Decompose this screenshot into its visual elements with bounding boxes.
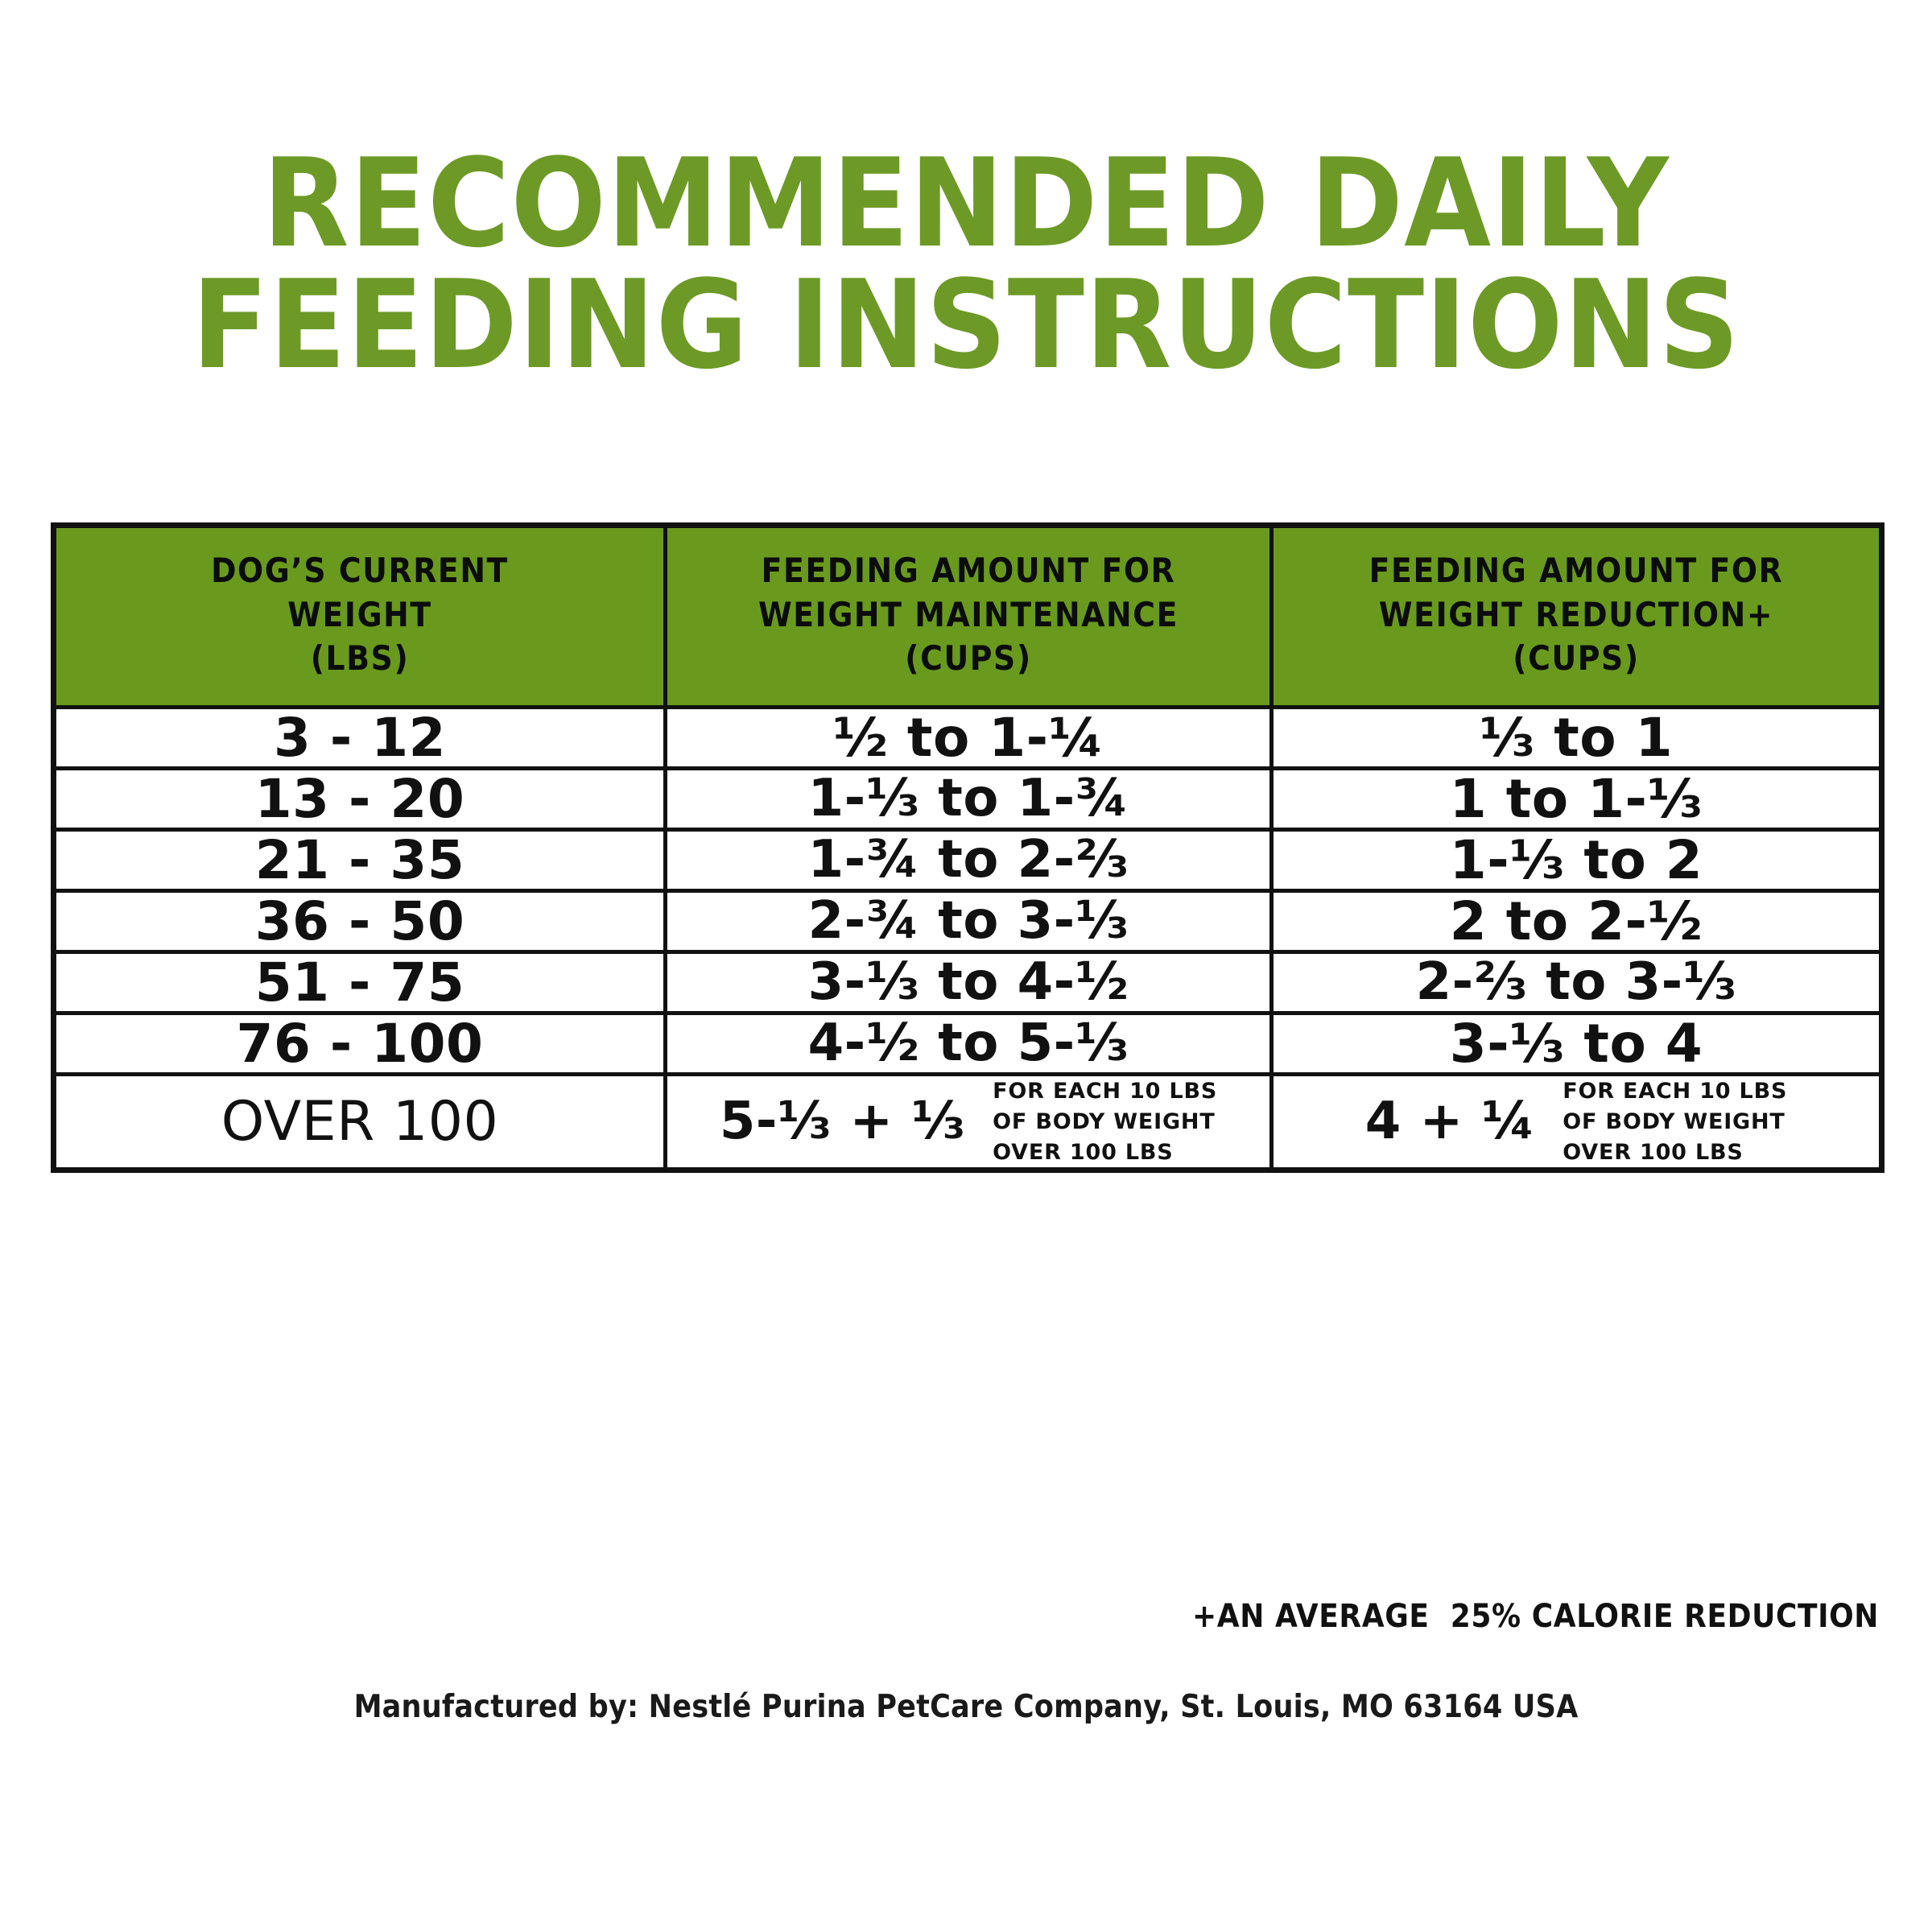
weight-value: 3 - 12	[56, 710, 663, 766]
cell-maintenance: 1-¾ to 2-⅔	[666, 830, 1272, 891]
maintenance-value: 5-⅓ + ⅓	[720, 1095, 965, 1149]
column-header-weight-label: DOG’S CURRENT WEIGHT (LBS)	[64, 549, 655, 681]
reduction-value: 2 to 2-½	[1274, 894, 1879, 949]
weight-value: 13 - 20	[56, 771, 663, 827]
cell-reduction: 1 to 1-⅓	[1272, 769, 1882, 830]
page-title-line-1: RECOMMENDED DAILY	[0, 151, 1932, 255]
table-row: 76 - 100 4-½ to 5-⅓ 3-⅓ to 4	[54, 1013, 1882, 1075]
column-header-maintenance: FEEDING AMOUNT FOR WEIGHT MAINTENANCE (C…	[666, 526, 1272, 708]
cell-weight: 76 - 100	[54, 1013, 666, 1075]
weight-value: 21 - 35	[56, 832, 663, 888]
table-body: 3 - 12 ½ to 1-¼ ⅓ to 1 13 - 20 1-⅓ to 1-…	[54, 708, 1882, 1170]
page-title-line-2: FEEDING INSTRUCTIONS	[0, 273, 1932, 377]
weight-value: OVER 100	[56, 1093, 663, 1150]
column-header-reduction: FEEDING AMOUNT FOR WEIGHT REDUCTION+ (CU…	[1272, 526, 1882, 708]
cell-maintenance: ½ to 1-¼	[666, 708, 1272, 769]
reduction-value: 1-⅓ to 2	[1274, 832, 1879, 888]
column-header-maintenance-label: FEEDING AMOUNT FOR WEIGHT MAINTENANCE (C…	[675, 549, 1261, 681]
table-row: 21 - 35 1-¾ to 2-⅔ 1-⅓ to 2	[54, 830, 1882, 891]
cell-weight: OVER 100	[54, 1075, 666, 1170]
cell-reduction: 2-⅔ to 3-⅓	[1272, 952, 1882, 1013]
manufacturer-line: Manufactured by: Nestlé Purina PetCare C…	[0, 1689, 1932, 1725]
reduction-combo: 4 + ¼ FOR EACH 10 LBS OF BODY WEIGHT OVE…	[1274, 1076, 1879, 1167]
weight-value: 36 - 50	[56, 894, 663, 949]
cell-maintenance: 2-¾ to 3-⅓	[666, 891, 1272, 952]
maintenance-value: 1-¾ to 2-⅔	[667, 833, 1269, 887]
table-row: 3 - 12 ½ to 1-¼ ⅓ to 1	[54, 708, 1882, 769]
table-row-over-100: OVER 100 5-⅓ + ⅓ FOR EACH 10 LBS OF BODY…	[54, 1075, 1882, 1170]
cell-weight: 36 - 50	[54, 891, 666, 952]
maintenance-combo: 5-⅓ + ⅓ FOR EACH 10 LBS OF BODY WEIGHT O…	[667, 1076, 1269, 1167]
cell-reduction: 2 to 2-½	[1272, 891, 1882, 952]
weight-value: 76 - 100	[56, 1016, 663, 1071]
table-row: 36 - 50 2-¾ to 3-⅓ 2 to 2-½	[54, 891, 1882, 952]
table-row: 13 - 20 1-⅓ to 1-¾ 1 to 1-⅓	[54, 769, 1882, 830]
page-title: RECOMMENDED DAILY FEEDING INSTRUCTIONS	[0, 151, 1932, 377]
cell-weight: 21 - 35	[54, 830, 666, 891]
cell-maintenance: 4-½ to 5-⅓	[666, 1013, 1272, 1075]
cell-reduction: 1-⅓ to 2	[1272, 830, 1882, 891]
feeding-chart-table: DOG’S CURRENT WEIGHT (LBS) FEEDING AMOUN…	[51, 522, 1885, 1173]
cell-reduction: 4 + ¼ FOR EACH 10 LBS OF BODY WEIGHT OVE…	[1272, 1075, 1882, 1170]
feeding-instructions-page: RECOMMENDED DAILY FEEDING INSTRUCTIONS D…	[0, 0, 1932, 1932]
table-header-row: DOG’S CURRENT WEIGHT (LBS) FEEDING AMOUN…	[54, 526, 1882, 708]
reduction-value: ⅓ to 1	[1274, 710, 1879, 766]
maintenance-value: 4-½ to 5-⅓	[667, 1017, 1269, 1071]
cell-maintenance: 5-⅓ + ⅓ FOR EACH 10 LBS OF BODY WEIGHT O…	[666, 1075, 1272, 1170]
cell-reduction: ⅓ to 1	[1272, 708, 1882, 769]
maintenance-note: FOR EACH 10 LBS OF BODY WEIGHT OVER 100 …	[993, 1076, 1217, 1167]
cell-maintenance: 3-⅓ to 4-½	[666, 952, 1272, 1013]
cell-weight: 13 - 20	[54, 769, 666, 830]
reduction-value: 3-⅓ to 4	[1274, 1016, 1879, 1071]
column-header-weight: DOG’S CURRENT WEIGHT (LBS)	[54, 526, 666, 708]
table-row: 51 - 75 3-⅓ to 4-½ 2-⅔ to 3-⅓	[54, 952, 1882, 1013]
cell-weight: 51 - 75	[54, 952, 666, 1013]
reduction-value: 2-⅔ to 3-⅓	[1274, 956, 1879, 1009]
column-header-reduction-label: FEEDING AMOUNT FOR WEIGHT REDUCTION+ (CU…	[1282, 549, 1871, 681]
maintenance-value: 1-⅓ to 1-¾	[667, 772, 1269, 826]
reduction-value: 1 to 1-⅓	[1274, 771, 1879, 827]
reduction-note: FOR EACH 10 LBS OF BODY WEIGHT OVER 100 …	[1563, 1076, 1787, 1167]
calorie-reduction-footnote: +AN AVERAGE 25% CALORIE REDUCTION	[1192, 1598, 1879, 1635]
cell-reduction: 3-⅓ to 4	[1272, 1013, 1882, 1075]
maintenance-value: 2-¾ to 3-⅓	[667, 894, 1269, 948]
table-header: DOG’S CURRENT WEIGHT (LBS) FEEDING AMOUN…	[54, 526, 1882, 708]
maintenance-value: ½ to 1-¼	[667, 710, 1269, 766]
maintenance-value: 3-⅓ to 4-½	[667, 956, 1269, 1009]
reduction-value: 4 + ¼	[1365, 1095, 1535, 1149]
weight-value: 51 - 75	[56, 955, 663, 1010]
cell-maintenance: 1-⅓ to 1-¾	[666, 769, 1272, 830]
cell-weight: 3 - 12	[54, 708, 666, 769]
